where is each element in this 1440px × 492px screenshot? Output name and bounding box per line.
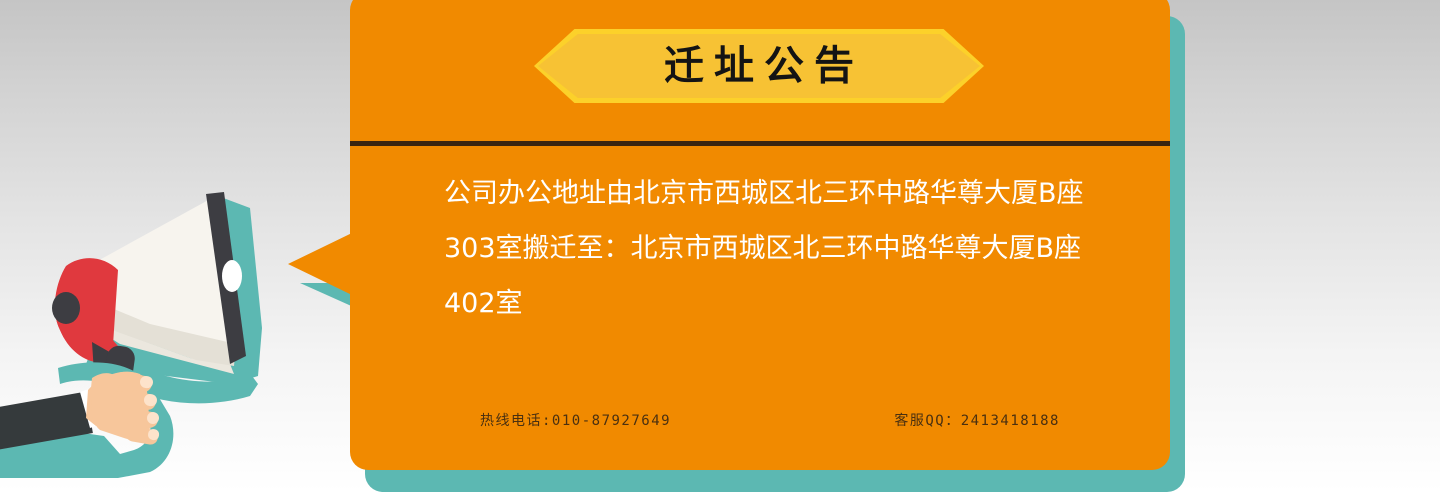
ribbon-face: 迁址公告 xyxy=(538,34,980,98)
announcement-body: 公司办公地址由北京市西城区北三环中路华尊大厦B座303室搬迁至：北京市西城区北三… xyxy=(444,166,1094,331)
megaphone-highlight xyxy=(222,260,242,292)
hotline-text: 热线电话:010-87927649 xyxy=(480,410,671,430)
megaphone-nozzle xyxy=(52,292,80,324)
bubble-tail xyxy=(288,232,354,296)
contact-footer: 热线电话:010-87927649 客服QQ：2413418188 xyxy=(480,410,1060,430)
divider xyxy=(350,141,1170,146)
qq-text: 客服QQ：2413418188 xyxy=(894,410,1060,430)
title-ribbon: 迁址公告 xyxy=(534,29,984,103)
megaphone-illustration xyxy=(0,178,330,492)
announcement-banner: 迁址公告 公司办公地址由北京市西城区北三环中路华尊大厦B座303室搬迁至：北京市… xyxy=(0,0,1440,492)
page-title: 迁址公告 xyxy=(654,46,864,86)
